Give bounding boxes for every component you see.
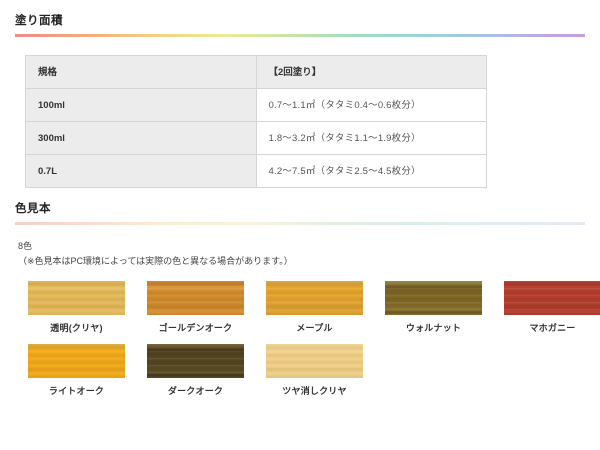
- coverage-section-header: 塗り面積: [0, 14, 600, 37]
- column-header-coats: 【2回塗り】: [256, 56, 487, 89]
- table-row: 0.7L 4.2〜7.5㎡（タタミ2.5〜4.5枚分）: [26, 155, 487, 188]
- gradient-divider: [15, 34, 585, 37]
- color-swatch-light-oak[interactable]: ライトオーク: [28, 344, 125, 397]
- swatch-label: ダークオーク: [147, 385, 244, 397]
- color-swatch-golden-oak[interactable]: ゴールデンオーク: [147, 281, 244, 334]
- color-swatch-matte-clear[interactable]: ツヤ消しクリヤ: [266, 344, 363, 397]
- swatch-chip[interactable]: [266, 344, 363, 378]
- swatch-label: マホガニー: [504, 322, 600, 334]
- color-swatch-walnut[interactable]: ウォルナット: [385, 281, 482, 334]
- color-swatch-grid: 透明(クリヤ) ゴールデンオーク メープル ウォルナット: [28, 281, 600, 397]
- color-samples-section: 色見本 8色 （※色見本はPC環境によっては実際の色と異なる場合があります。） …: [0, 202, 600, 407]
- cell-coverage-value: 1.8〜3.2㎡（タタミ1.1〜1.9枚分）: [256, 122, 487, 155]
- color-swatch-transparent-clear[interactable]: 透明(クリヤ): [28, 281, 125, 334]
- swatch-row: 透明(クリヤ) ゴールデンオーク メープル ウォルナット: [28, 281, 600, 334]
- swatch-label: ライトオーク: [28, 385, 125, 397]
- column-header-spec: 規格: [26, 56, 257, 89]
- cell-coverage-value: 0.7〜1.1㎡（タタミ0.4〜0.6枚分）: [256, 89, 487, 122]
- wood-grain-icon: [147, 281, 244, 315]
- swatch-row: ライトオーク ダークオーク ツヤ消しクリヤ: [28, 344, 600, 397]
- coverage-table-wrapper: 規格 【2回塗り】 100ml 0.7〜1.1㎡（タタミ0.4〜0.6枚分） 3…: [25, 55, 600, 188]
- color-samples-note: 8色 （※色見本はPC環境によっては実際の色と異なる場合があります。）: [18, 239, 600, 269]
- color-swatch-dark-oak[interactable]: ダークオーク: [147, 344, 244, 397]
- coverage-table-body: 100ml 0.7〜1.1㎡（タタミ0.4〜0.6枚分） 300ml 1.8〜3…: [26, 89, 487, 188]
- coverage-section-title: 塗り面積: [15, 14, 600, 34]
- wood-grain-icon: [28, 344, 125, 378]
- color-count-label: 8色: [18, 239, 600, 254]
- swatch-chip[interactable]: [28, 281, 125, 315]
- swatch-chip[interactable]: [385, 281, 482, 315]
- coverage-table-head: 規格 【2回塗り】: [26, 56, 487, 89]
- cell-coverage-value: 4.2〜7.5㎡（タタミ2.5〜4.5枚分）: [256, 155, 487, 188]
- swatch-chip[interactable]: [504, 281, 600, 315]
- swatch-chip[interactable]: [28, 344, 125, 378]
- wood-grain-icon: [266, 281, 363, 315]
- table-row: 300ml 1.8〜3.2㎡（タタミ1.1〜1.9枚分）: [26, 122, 487, 155]
- swatch-label: ウォルナット: [385, 322, 482, 334]
- color-swatch-maple[interactable]: メープル: [266, 281, 363, 334]
- color-samples-section-header: 色見本: [0, 202, 600, 225]
- color-disclaimer-text: （※色見本はPC環境によっては実際の色と異なる場合があります。）: [18, 254, 600, 269]
- wood-grain-icon: [28, 281, 125, 315]
- coverage-section: 塗り面積 規格 【2回塗り】 100ml 0.7〜1.1㎡（タタミ0.4〜0.6…: [0, 14, 600, 188]
- wood-grain-icon: [504, 281, 600, 315]
- swatch-chip[interactable]: [266, 281, 363, 315]
- swatch-label: ツヤ消しクリヤ: [266, 385, 363, 397]
- swatch-chip[interactable]: [147, 344, 244, 378]
- swatch-label: 透明(クリヤ): [28, 322, 125, 334]
- wood-grain-icon: [266, 344, 363, 378]
- color-swatch-mahogany[interactable]: マホガニー: [504, 281, 600, 334]
- wood-grain-icon: [147, 344, 244, 378]
- cell-spec: 0.7L: [26, 155, 257, 188]
- table-header-row: 規格 【2回塗り】: [26, 56, 487, 89]
- swatch-label: ゴールデンオーク: [147, 322, 244, 334]
- cell-spec: 300ml: [26, 122, 257, 155]
- color-samples-section-title: 色見本: [15, 202, 600, 222]
- coverage-table: 規格 【2回塗り】 100ml 0.7〜1.1㎡（タタミ0.4〜0.6枚分） 3…: [25, 55, 487, 188]
- swatch-chip[interactable]: [147, 281, 244, 315]
- swatch-label: メープル: [266, 322, 363, 334]
- table-row: 100ml 0.7〜1.1㎡（タタミ0.4〜0.6枚分）: [26, 89, 487, 122]
- cell-spec: 100ml: [26, 89, 257, 122]
- wood-grain-icon: [385, 281, 482, 315]
- gradient-divider: [15, 222, 585, 225]
